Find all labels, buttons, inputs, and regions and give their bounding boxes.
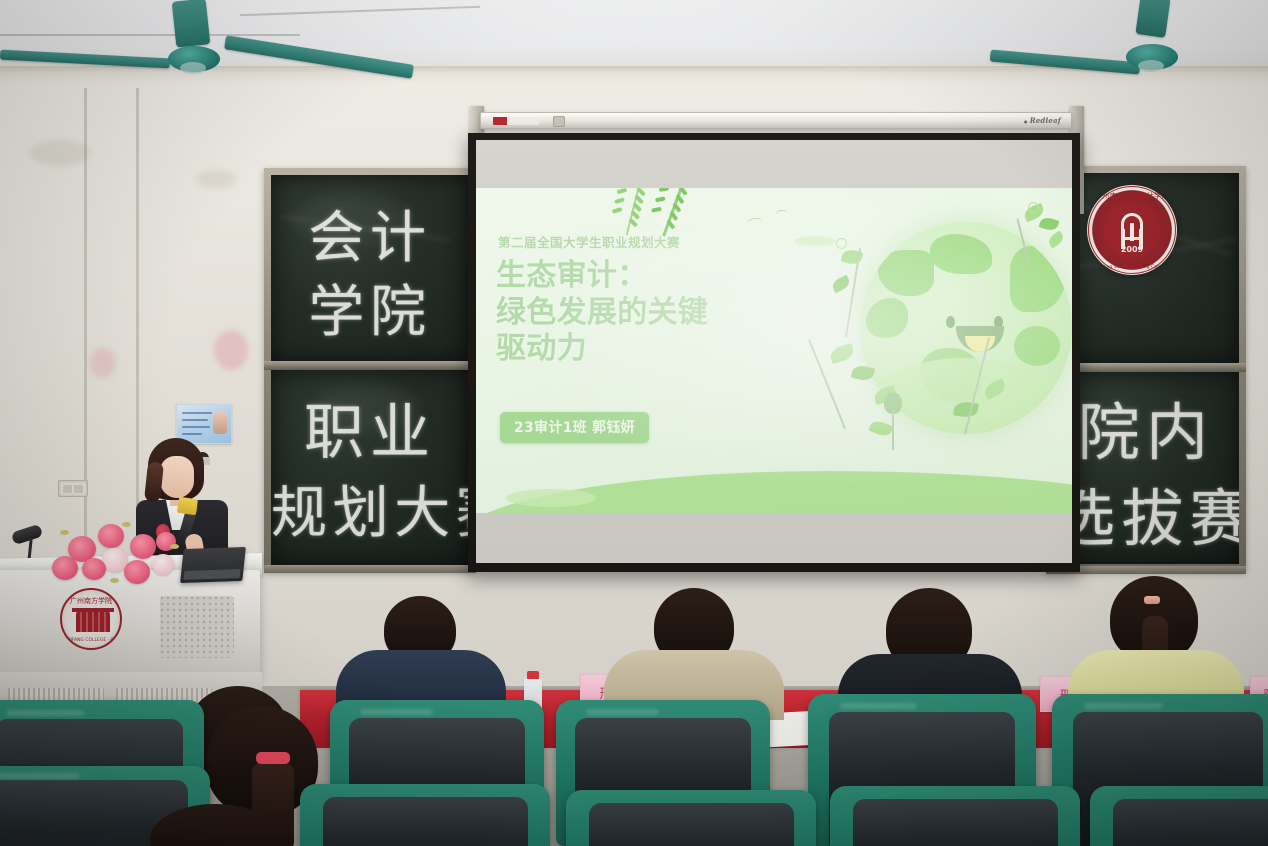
blackboard-left-bottom-panel: 职业 规划大赛 — [271, 370, 469, 565]
school-emblem: 广州南方学院会计学院 2009 Accounting School Nanfan… — [1087, 185, 1177, 275]
wall-smudge — [30, 140, 90, 166]
blackboard-left-bottom-text-line2: 规划大赛 — [271, 468, 469, 549]
globe-mouth — [956, 326, 1004, 352]
fan-blade — [224, 35, 414, 79]
greenery — [60, 530, 69, 535]
rose — [98, 524, 124, 548]
blackboard-right-bottom-text-line1: 院内 — [1053, 382, 1239, 472]
slide-kicker: 第二届全国大学生职业规划大赛 — [498, 232, 680, 251]
lecture-hall-photo: 会计 学院 职业 规划大赛 广州南方学院会计学院 2009 — [0, 0, 1268, 846]
landmass — [930, 234, 992, 274]
poster-portrait — [213, 412, 227, 434]
emblem-cn-text: 广州南方学院会计学院 — [1087, 191, 1177, 201]
globe-illustration — [826, 196, 1072, 456]
greenery — [170, 544, 179, 549]
seat-highlight — [360, 709, 433, 715]
fan-hub — [168, 46, 220, 72]
podium-emblem-cn: 广州南方学院 — [62, 596, 120, 606]
leaf-decoration — [1039, 216, 1060, 233]
emblem-en-text: Accounting School Nanfang College Guangz… — [1087, 265, 1177, 270]
fan-blade — [172, 0, 211, 48]
roller-label — [493, 117, 539, 125]
blackboard-left-top-panel: 会计 学院 — [271, 175, 469, 361]
bottle-cap — [527, 671, 539, 679]
seat[interactable] — [1090, 786, 1268, 846]
seat-highlight — [0, 773, 80, 779]
wall-smudge-pink — [90, 348, 116, 378]
greenery — [110, 578, 119, 583]
seat-pad — [853, 799, 1058, 846]
audience-member-foreground — [150, 804, 300, 846]
seat[interactable] — [300, 784, 550, 846]
seat-pad — [589, 803, 794, 846]
hair-clip — [1144, 596, 1160, 604]
presenter-badge: 23审计1班 郭钰妍 — [500, 412, 649, 443]
rose — [82, 558, 106, 580]
poster-line — [182, 419, 208, 421]
blackboard-right-bottom-text-line2: 选拔赛 — [1053, 468, 1239, 558]
plant-stem — [892, 410, 894, 450]
seat-pad — [1113, 799, 1268, 846]
landmass — [866, 298, 908, 338]
ceiling-fan-left — [150, 6, 400, 86]
wall-smudge-pink — [214, 330, 248, 370]
blackboard-left: 会计 学院 职业 规划大赛 — [264, 168, 476, 572]
podium-emblem-en: NANFANG COLLEGE · GUANGZHOU — [62, 638, 120, 643]
globe-eye-left — [946, 316, 955, 328]
landmass — [878, 250, 934, 296]
wall-outlet[interactable] — [58, 480, 88, 497]
blackboard-left-tray — [264, 565, 476, 573]
wall-smudge — [196, 170, 236, 188]
blackboard-left-top-text-line2: 学院 — [271, 267, 469, 348]
blackboard-left-bottom-text-line1: 职业 — [271, 384, 469, 471]
poster-line — [182, 412, 212, 414]
fan-hub — [1126, 44, 1178, 70]
landmass — [1010, 246, 1066, 312]
presenter-face — [160, 456, 194, 498]
greenery — [122, 522, 131, 527]
seat-pad — [323, 797, 528, 846]
bottom-blob — [506, 489, 596, 507]
rose — [124, 560, 150, 584]
poster-line — [182, 426, 210, 428]
microphone-flag — [177, 497, 198, 515]
poster-line — [182, 433, 202, 435]
seat-highlight — [1084, 703, 1163, 709]
projector-brand-label: Redleaf — [1024, 116, 1061, 125]
blackboard-divider — [264, 361, 476, 370]
seat[interactable] — [566, 790, 816, 846]
ceiling-fan-right — [1110, 0, 1268, 90]
audience-member — [336, 596, 506, 716]
leaf-decoration — [1046, 230, 1065, 248]
seat-highlight — [840, 703, 918, 709]
rose — [52, 556, 78, 580]
leaf-decoration — [830, 275, 851, 294]
slide-title-line-2: 绿色发展的关键 — [496, 295, 826, 332]
slide-title-line-3: 驱动力 — [496, 331, 826, 368]
podium-emblem-gate — [76, 612, 110, 632]
blackboard-right-bottom-panel: 院内 选拔赛 — [1053, 372, 1239, 564]
seat[interactable] — [830, 786, 1080, 846]
rose — [152, 554, 174, 575]
roller-button[interactable] — [553, 116, 565, 127]
podium-school-emblem: 广州南方学院 NANFANG COLLEGE · GUANGZHOU — [60, 588, 122, 650]
slide-title: 生态审计： 绿色发展的关键 驱动力 — [496, 258, 826, 368]
hair-scrunchie — [256, 752, 290, 764]
projected-slide: 第二届全国大学生职业规划大赛 生态审计： 绿色发展的关键 驱动力 23审计1班 … — [476, 188, 1072, 513]
slide-title-line-1: 生态审计： — [496, 258, 826, 295]
landmass — [1014, 326, 1060, 366]
podium-laptop[interactable] — [180, 547, 246, 583]
flower-decoration — [836, 238, 847, 249]
projector-screen-roller[interactable]: Redleaf — [480, 112, 1072, 129]
flower-arrangement — [52, 524, 182, 586]
globe-tongue — [965, 336, 995, 352]
projector-screen: 第二届全国大学生职业规划大赛 生态审计： 绿色发展的关键 驱动力 23审计1班 … — [468, 133, 1080, 572]
audience-member — [604, 588, 784, 718]
head — [150, 804, 280, 846]
bird-icon — [748, 217, 763, 226]
fan-blade — [1135, 0, 1170, 38]
seat-highlight — [6, 710, 84, 716]
emblem-year: 2009 — [1087, 245, 1177, 254]
flower-decoration — [1028, 202, 1039, 213]
seat-highlight — [586, 709, 659, 715]
leaf-decoration — [828, 343, 855, 364]
blackboard-left-top-text-line1: 会计 — [271, 193, 469, 274]
podium-speaker-grill — [160, 596, 234, 658]
rose — [130, 534, 156, 559]
bird-icon — [776, 209, 788, 217]
screen-surface: 第二届全国大学生职业规划大赛 生态审计： 绿色发展的关键 驱动力 23审计1班 … — [476, 140, 1072, 563]
emblem-arch-bar — [1123, 237, 1141, 240]
